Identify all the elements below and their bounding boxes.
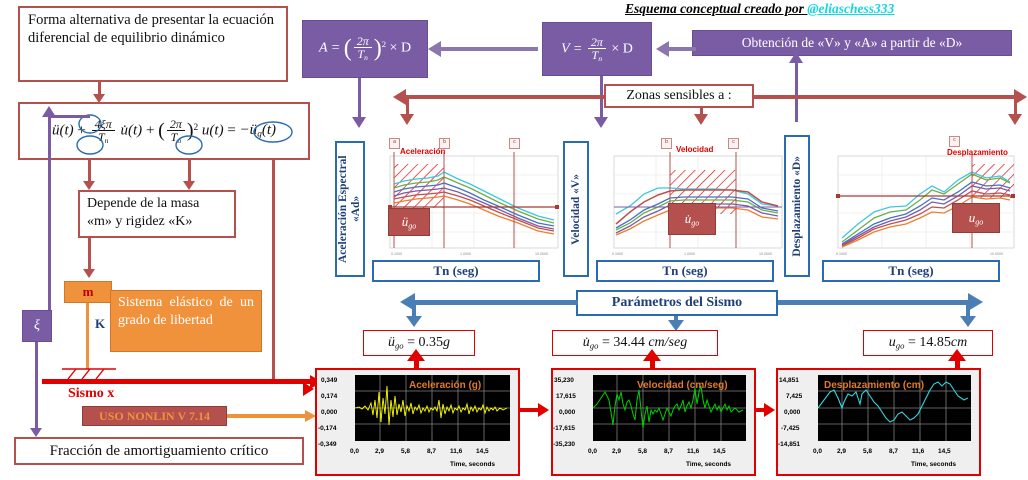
timehistory-0-title: Aceleración (g) <box>409 380 481 391</box>
spectrum-2-ugo-symbol: ugo <box>969 210 984 226</box>
spectrum-0-region-title: Aceleración <box>400 147 445 156</box>
spring-label: K <box>95 316 105 332</box>
svg-text:11,6: 11,6 <box>912 448 925 455</box>
value1-up-arrow <box>643 349 661 361</box>
timehistory-1-title: Velocidad (cm/seg) <box>637 380 728 391</box>
obtencion-box: Obtención de «V» y «A» a partir de «D» <box>692 30 1012 56</box>
parametros-line-right <box>778 300 970 305</box>
credit-line: Esquema conceptual creado por @eliasches… <box>625 1 1025 19</box>
svg-text:-0,349: -0,349 <box>318 441 337 448</box>
parametros-title: Parámetros del Sismo <box>612 295 742 311</box>
formula-A-tail: × D <box>390 41 412 56</box>
value0-up-arrow <box>407 349 425 361</box>
svg-text:0,0: 0,0 <box>350 448 359 455</box>
spectrum-1-y-axis-label: Velocidad «V» <box>563 141 589 277</box>
spectrum-1-ugo-badge: u̇go <box>668 203 716 235</box>
zonas-text: Zonas sensibles a : <box>626 88 731 104</box>
nonlin-arrow-line <box>227 414 309 418</box>
parametros-down-left <box>406 316 422 327</box>
svg-text:2,9: 2,9 <box>837 448 846 455</box>
parametros-line-left <box>414 300 578 305</box>
svg-text:1.0000: 1.0000 <box>684 252 695 256</box>
zonas-left-arrowhead <box>393 89 406 105</box>
svg-text:35,230: 35,230 <box>554 377 574 384</box>
svg-text:8,7: 8,7 <box>889 448 898 455</box>
svg-text:2,9: 2,9 <box>375 448 384 455</box>
svg-text:0,0: 0,0 <box>813 448 822 455</box>
svg-text:0.1000: 0.1000 <box>836 252 847 256</box>
intro-box: Forma alternativa de presentar la ecuaci… <box>18 6 288 82</box>
link-th0-to-th1-head <box>538 403 549 417</box>
nonlin-label: USO NONLIN V 7.14 <box>99 409 210 424</box>
svg-text:-35,230: -35,230 <box>553 441 575 448</box>
arrow-V-to-A-line <box>440 47 538 51</box>
fraccion-text: Fracción de amortiguamiento crítico <box>50 443 269 460</box>
value2-up-arrow <box>948 349 966 361</box>
formula-V-box: V = 2π Tn × D <box>542 22 652 76</box>
zonas-sensibles-box: Zonas sensibles a : <box>604 84 754 108</box>
svg-text:5,8: 5,8 <box>863 448 872 455</box>
depende-text: Depende de la masa «m» y rigidez «K» <box>87 196 199 229</box>
parametros-arrow-right <box>968 293 983 311</box>
svg-text:10.0000: 10.0000 <box>990 252 1003 256</box>
svg-text:-7,425: -7,425 <box>781 425 800 432</box>
spectrum-0-tick-a: a <box>389 138 400 149</box>
spectrum-0-plot: 0.1000 1.0000 10.0000 <box>372 150 562 260</box>
formula-V-tail: × D <box>611 41 633 56</box>
intro-box-text: Forma alternativa de presentar la ecuaci… <box>28 12 274 46</box>
parametros-down-right <box>960 316 976 327</box>
timehistory-0: 0,349 0,174 0,000 -0,174 -0,349 0,0 2,9 … <box>315 368 520 476</box>
nonlin-box: USO NONLIN V 7.14 <box>82 406 227 426</box>
svg-text:0,174: 0,174 <box>321 393 338 400</box>
svg-text:11,6: 11,6 <box>687 448 700 455</box>
spectrum-0-x-axis-label: Tn (seg) <box>372 260 540 282</box>
spring-column <box>86 303 89 369</box>
parametros-box: Parámetros del Sismo <box>576 290 778 316</box>
parametro-value-1: u̇go = 34.44 cm/seg <box>552 330 718 356</box>
formula-A-power: 2 <box>382 39 386 49</box>
formula-V-lhs: V = <box>561 41 582 56</box>
svg-text:10.0000: 10.0000 <box>535 252 548 256</box>
svg-text:8,7: 8,7 <box>427 448 436 455</box>
arrowhead-A-down <box>352 117 366 128</box>
svg-text:Time, seconds: Time, seconds <box>686 461 731 468</box>
spectrum-1-x-axis-label: Tn (seg) <box>596 260 774 282</box>
svg-text:-0,174: -0,174 <box>318 425 337 432</box>
arrow-depende-to-mass <box>88 238 91 272</box>
timehistory-2-title: Desplazamiento (cm) <box>824 380 924 391</box>
svg-text:17,615: 17,615 <box>556 393 576 400</box>
spectrum-1-region-title: Velocidad <box>676 145 713 154</box>
arrow-into-th0 <box>303 382 314 396</box>
depende-box: Depende de la masa «m» y rigidez «K» <box>78 190 236 238</box>
zonas-down-mid <box>694 114 708 125</box>
spectrum-2-tick-c: c <box>949 136 960 147</box>
svg-text:14,5: 14,5 <box>476 448 489 455</box>
fraccion-box: Fracción de amortiguamiento crítico <box>14 437 304 465</box>
arrow-V-to-A-head <box>428 41 441 57</box>
svg-text:14,5: 14,5 <box>938 448 951 455</box>
parametro-value-2: ugo = 14.85cm <box>863 330 993 356</box>
svg-text:Time, seconds: Time, seconds <box>450 461 495 468</box>
credit-text: Esquema conceptual creado por <box>625 1 807 16</box>
mass-block: m <box>64 281 112 303</box>
svg-text:0,0: 0,0 <box>588 448 597 455</box>
mass-label: m <box>83 284 94 300</box>
credit-handle-link[interactable]: @eliaschess333 <box>807 1 894 16</box>
timehistory-1: 35,230 17,615 0,000 -17,615 -35,230 0,0 … <box>551 368 756 476</box>
arrowhead-V-down <box>594 117 608 128</box>
link-th1-to-th2-head <box>764 403 775 417</box>
line-rhs-to-ground-motion <box>272 160 275 382</box>
spectrum-2-region-title: Desplazamiento <box>947 148 1008 157</box>
svg-text:0.1000: 0.1000 <box>612 252 623 256</box>
spectrum-0-y-axis-label: Aceleración Espectral «Ad» <box>335 141 365 277</box>
formula-A-box: A = ( 2π Tn )2 × D <box>302 20 428 78</box>
sistema-elastico-box: Sistema elástico de un grado de libertad <box>110 290 262 352</box>
svg-text:0,000: 0,000 <box>321 409 338 416</box>
svg-text:Time, seconds: Time, seconds <box>911 461 956 468</box>
spectrum-2-x-axis-label: Tn (seg) <box>822 260 1000 282</box>
svg-text:0.1000: 0.1000 <box>391 252 402 256</box>
arrowhead-D-up <box>789 52 803 63</box>
arrow-obt-to-V-head <box>656 41 669 57</box>
spectrum-2-ugo-badge: ugo <box>952 203 1000 233</box>
spectrum-0-tick-c: c <box>509 138 520 149</box>
line-A-down <box>358 78 361 120</box>
spectrum-1-ugo-symbol: u̇go <box>685 211 700 227</box>
svg-text:0,000: 0,000 <box>784 409 801 416</box>
sismo-label: Sismo x <box>68 386 114 402</box>
line-damper-to-fraccion <box>35 342 38 432</box>
arrow-obt-to-V-line <box>668 47 696 51</box>
obtencion-text: Obtención de «V» y «A» a partir de «D» <box>742 35 962 51</box>
sistema-text: Sistema elástico de un grado de libertad <box>118 295 254 328</box>
formula-A-lhs: A = <box>319 41 340 56</box>
equation-annotation-circles <box>18 102 310 160</box>
damper-label: ξ <box>34 318 40 334</box>
svg-text:7,425: 7,425 <box>786 393 803 400</box>
svg-text:5,8: 5,8 <box>638 448 647 455</box>
line-D-up-to-obtencion <box>795 60 798 122</box>
svg-text:8,7: 8,7 <box>664 448 673 455</box>
svg-text:0,000: 0,000 <box>559 409 576 416</box>
spectrum-1-tick-c: c <box>728 138 739 149</box>
arrowhead-to-fraccion <box>30 428 42 437</box>
arrowhead-damping-up <box>42 106 56 117</box>
spectrum-2-y-axis-label: Desplazamiento «D» <box>784 135 810 277</box>
sismo-arrow-line <box>42 379 314 384</box>
formula-V-den: Tn <box>589 49 605 63</box>
zonas-down-left <box>400 114 414 125</box>
line-damping-to-equation <box>48 118 51 313</box>
svg-text:1.0000: 1.0000 <box>460 252 471 256</box>
svg-text:14,851: 14,851 <box>779 377 799 384</box>
zonas-down-right <box>1008 114 1022 125</box>
svg-text:2,9: 2,9 <box>612 448 621 455</box>
damper-block: ξ <box>22 310 52 342</box>
svg-text:-14,851: -14,851 <box>778 441 800 448</box>
timehistory-2: 14,851 7,425 0,000 -7,425 -14,851 0,0 2,… <box>776 368 981 476</box>
formula-A-den: Tn <box>354 48 370 62</box>
svg-text:14,5: 14,5 <box>713 448 726 455</box>
spectrum-0-ugo-symbol: ügo <box>402 214 417 230</box>
svg-text:10.0000: 10.0000 <box>759 252 772 256</box>
svg-text:11,6: 11,6 <box>450 448 463 455</box>
spectrum-0-ugo-badge: ügo <box>388 208 430 236</box>
svg-text:-17,615: -17,615 <box>553 425 575 432</box>
svg-text:0,349: 0,349 <box>321 377 338 384</box>
spectrum-1-tick-b: b <box>661 138 672 149</box>
svg-text:5,8: 5,8 <box>401 448 410 455</box>
